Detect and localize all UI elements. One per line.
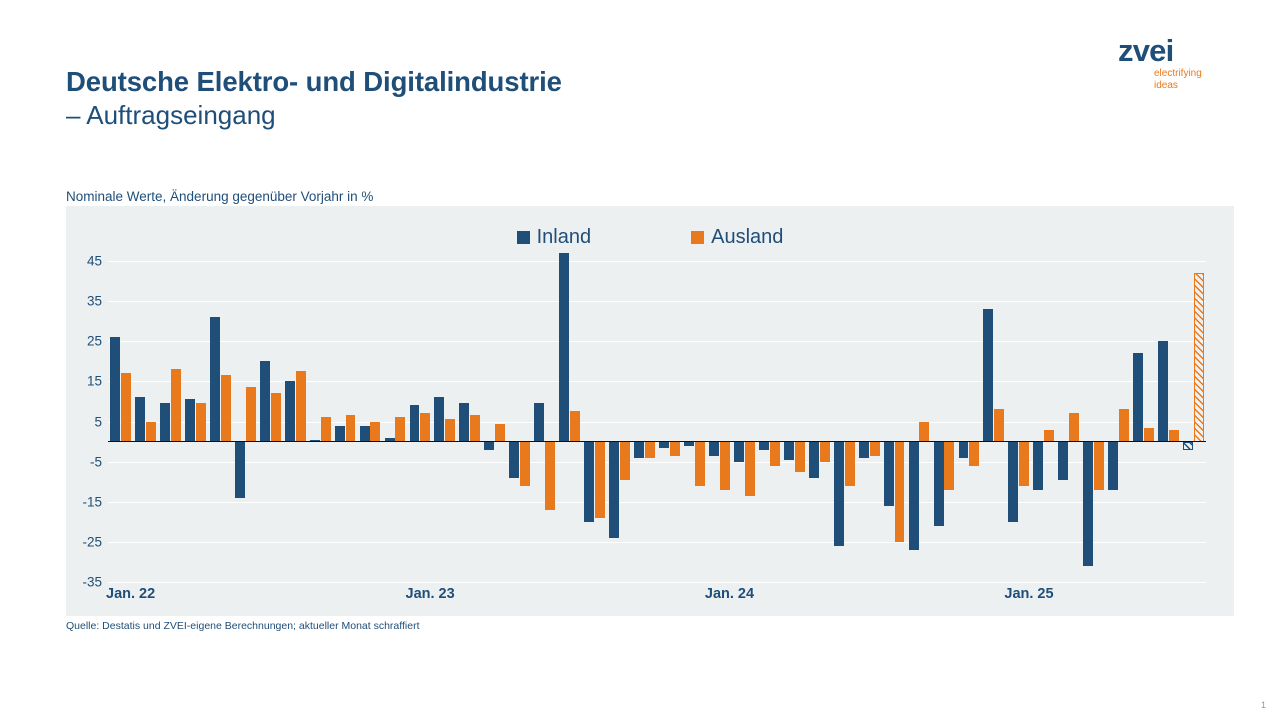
bar-inland-43[interactable] [1183,442,1193,450]
bar-inland-34[interactable] [959,442,969,458]
gridline--35 [108,582,1206,583]
bar-inland-33[interactable] [934,442,944,526]
source-note: Quelle: Destatis und ZVEI-eigene Berechn… [66,620,420,632]
bar-ausland-12[interactable] [420,413,430,441]
bar-ausland-8[interactable] [321,417,331,441]
square-swatch [517,231,530,244]
bar-inland-9[interactable] [335,426,345,442]
bar-ausland-5[interactable] [246,387,256,441]
y-axis-tick-35: 35 [87,294,102,309]
bar-ausland-18[interactable] [570,411,580,441]
bar-inland-28[interactable] [809,442,819,478]
bar-inland-6[interactable] [260,361,270,441]
chart-container: InlandAusland 453525155-5-15-25-35 Jan. … [66,206,1234,616]
x-axis-tick-jan-24: Jan. 24 [705,586,754,602]
y-axis-tick-25: 25 [87,334,102,349]
bar-ausland-10[interactable] [370,422,380,442]
bar-ausland-42[interactable] [1169,430,1179,442]
bar-inland-19[interactable] [584,442,594,522]
square-swatch [691,231,704,244]
bar-inland-40[interactable] [1108,442,1118,490]
bar-ausland-22[interactable] [670,442,680,456]
bar-ausland-21[interactable] [645,442,655,458]
bar-ausland-28[interactable] [820,442,830,462]
zero-axis-line [108,441,1206,443]
bar-inland-38[interactable] [1058,442,1068,480]
bar-ausland-13[interactable] [445,419,455,441]
bar-ausland-36[interactable] [1019,442,1029,486]
logo-claim: electrifying ideas [1118,68,1238,91]
legend-item-ausland[interactable]: Ausland [691,226,783,249]
bar-ausland-6[interactable] [271,393,281,441]
bar-ausland-20[interactable] [620,442,630,480]
bar-ausland-38[interactable] [1069,413,1079,441]
bar-ausland-40[interactable] [1119,409,1129,441]
bar-inland-24[interactable] [709,442,719,456]
bar-ausland-16[interactable] [520,442,530,486]
bar-ausland-14[interactable] [470,415,480,441]
plot-area [108,261,1206,582]
chart-legend: InlandAusland [66,220,1234,254]
bar-inland-32[interactable] [909,442,919,550]
bar-ausland-4[interactable] [221,375,231,441]
bar-ausland-32[interactable] [919,422,929,442]
bar-inland-21[interactable] [634,442,644,458]
y-axis-tick-5: 5 [94,414,102,429]
x-axis-tick-jan-23: Jan. 23 [406,586,455,602]
bar-inland-36[interactable] [1008,442,1018,522]
bar-inland-14[interactable] [459,403,469,441]
bar-ausland-35[interactable] [994,409,1004,441]
bar-ausland-7[interactable] [296,371,306,441]
bar-ausland-39[interactable] [1094,442,1104,490]
legend-label: Inland [537,226,592,249]
x-axis-labels: Jan. 22Jan. 23Jan. 24Jan. 25 [108,586,1206,610]
bar-inland-37[interactable] [1033,442,1043,490]
bar-ausland-26[interactable] [770,442,780,466]
bar-ausland-2[interactable] [171,369,181,441]
bar-ausland-23[interactable] [695,442,705,486]
bar-ausland-9[interactable] [346,415,356,441]
bar-inland-3[interactable] [185,399,195,441]
bar-inland-42[interactable] [1158,341,1168,441]
bar-inland-1[interactable] [135,397,145,441]
bar-series-group [108,261,1206,582]
bar-inland-15[interactable] [484,442,494,450]
legend-item-inland[interactable]: Inland [517,226,592,249]
bar-inland-31[interactable] [884,442,894,506]
bar-inland-5[interactable] [235,442,245,498]
bar-inland-41[interactable] [1133,353,1143,441]
bar-inland-20[interactable] [609,442,619,538]
bar-ausland-0[interactable] [121,373,131,441]
page-title-line-1: Deutsche Elektro- und Digitalindustrie [66,66,826,98]
bar-inland-18[interactable] [559,253,569,442]
bar-ausland-15[interactable] [495,424,505,442]
bar-ausland-30[interactable] [870,442,880,456]
bar-ausland-25[interactable] [745,442,755,496]
bar-ausland-31[interactable] [895,442,905,542]
chart-subtitle: Nominale Werte, Änderung gegenüber Vorja… [66,189,373,204]
y-axis-tick-45: 45 [87,254,102,269]
bar-inland-22[interactable] [659,442,669,448]
bar-inland-30[interactable] [859,442,869,458]
y-axis-tick--15: -15 [82,494,102,509]
y-axis-tick--35: -35 [82,575,102,590]
bar-inland-0[interactable] [110,337,120,441]
bar-ausland-24[interactable] [720,442,730,490]
bar-ausland-37[interactable] [1044,430,1054,442]
bar-inland-29[interactable] [834,442,844,546]
bar-inland-4[interactable] [210,317,220,441]
bar-inland-12[interactable] [410,405,420,441]
bar-inland-25[interactable] [734,442,744,462]
zvei-logo: zvei electrifying ideas [1118,36,1238,91]
slide-page-number: 1 [1261,700,1266,710]
legend-label: Ausland [711,226,783,249]
bar-inland-10[interactable] [360,426,370,442]
page-title: Deutsche Elektro- und Digitalindustrie –… [66,66,826,130]
bar-inland-39[interactable] [1083,442,1093,566]
bar-ausland-34[interactable] [969,442,979,466]
bar-inland-17[interactable] [534,403,544,441]
bar-ausland-33[interactable] [944,442,954,490]
bar-inland-7[interactable] [285,381,295,441]
bar-ausland-43[interactable] [1194,273,1204,442]
bar-inland-35[interactable] [983,309,993,441]
bar-inland-27[interactable] [784,442,794,460]
bar-inland-2[interactable] [160,403,170,441]
y-axis-tick--25: -25 [82,534,102,549]
bar-inland-26[interactable] [759,442,769,450]
logo-claim-line-2: ideas [1154,80,1178,91]
bar-ausland-41[interactable] [1144,428,1154,442]
y-axis-tick-15: 15 [87,374,102,389]
bar-ausland-11[interactable] [395,417,405,441]
logo-wordmark: zvei [1118,36,1238,65]
bar-inland-13[interactable] [434,397,444,441]
bar-ausland-3[interactable] [196,403,206,441]
bar-ausland-1[interactable] [146,422,156,442]
bar-ausland-29[interactable] [845,442,855,486]
page-title-line-2: – Auftragseingang [66,100,826,130]
bar-inland-16[interactable] [509,442,519,478]
x-axis-tick-jan-25: Jan. 25 [1004,586,1053,602]
y-axis-tick--5: -5 [90,454,102,469]
x-axis-tick-jan-22: Jan. 22 [106,586,155,602]
bar-ausland-19[interactable] [595,442,605,518]
bar-ausland-27[interactable] [795,442,805,472]
bar-ausland-17[interactable] [545,442,555,510]
logo-claim-line-1: electrifying [1154,68,1202,79]
